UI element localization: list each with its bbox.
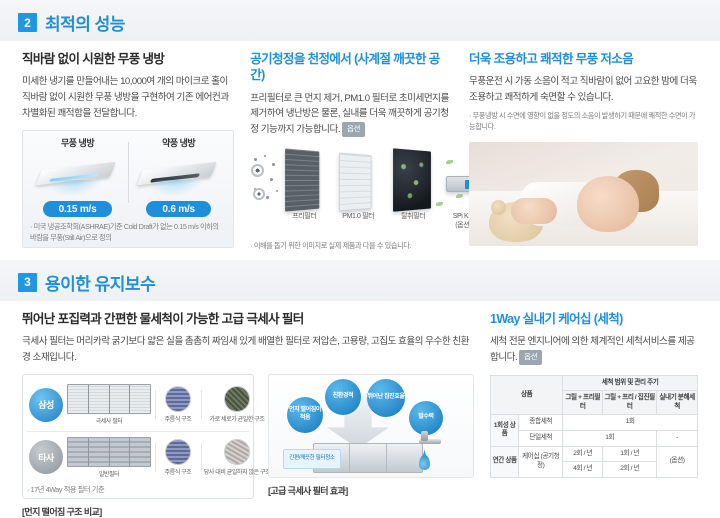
samsung-weave-caption: 가로 세로가 균일한 구조: [201, 414, 273, 423]
care-service-table: 상품 세척 범위 및 관리 주기 그릴 + 프리필터 그릴 + 프리 / 집진필…: [490, 375, 698, 478]
windless-cell: 무풍 냉방 0.15 m/s: [27, 136, 128, 218]
column-windless-cooling: 직바람 없이 시원한 무풍 냉방 미세한 냉기를 만들어내는 10,000여 개…: [14, 41, 242, 252]
column-heading: 공기청정을 천정에서 (사계절 깨끗한 공간): [250, 51, 453, 84]
filter-label-pre: 프리필터: [280, 212, 328, 221]
comparison-row-samsung: 삼성 극세사 필터 주름식 구조: [27, 379, 249, 431]
samsung-fold-cell: 주름식 구조: [155, 386, 201, 423]
column-body: 극세사 필터는 머리카락 굵기보다 얇은 실을 촘촘히 짜임새 있게 배열한 필…: [22, 334, 474, 366]
column-heading: 더욱 조용하고 쾌적한 무풍 저소음: [469, 51, 698, 67]
section-2-header: 2 최적의 성능: [18, 10, 720, 35]
easy-clean-tag: 간편/깨끗한 필터청소: [283, 449, 341, 469]
other-filter-caption: 일반필터: [63, 469, 155, 478]
ac-unit-windless-icon: [27, 154, 128, 196]
table-row: 단일세척 1회 -: [491, 430, 698, 446]
brochure-page: 2 최적의 성능 직바람 없이 시원한 무풍 냉방 미세한 냉기를 만들어내는 …: [0, 0, 720, 482]
cell-single-wash-cycle: 1회: [563, 430, 657, 446]
pre-filter-image: [285, 148, 319, 211]
subheader-full-disassembly: 실내기 분해세척: [657, 391, 698, 415]
effect-bubble-eco: 친환경적: [325, 379, 361, 415]
cell-careship-b2: 2회 / 년: [603, 462, 657, 478]
ashrae-note: · 미국 냉공조학회(ASHRAE)기준 Cold Draft가 없는 0.15…: [27, 222, 229, 244]
section-2-band: 2 최적의 성능: [0, 0, 720, 41]
section-3-header: 3 용이한 유지보수: [18, 270, 720, 295]
column-body: 무풍운전 시 가동 소음이 적고 직바람이 없어 고요한 밤에 더욱 조용하고 …: [469, 74, 698, 106]
column-body: 세척 전문 엔지니어에 의한 체계적인 세척서비스를 제공합니다.옵션: [490, 334, 698, 366]
column-heading: 1Way 실내기 케어십 (세척): [490, 311, 698, 327]
row-group-one-time: 1회성 상품: [491, 415, 519, 446]
section-2-columns: 직바람 없이 시원한 무풍 냉방 미세한 냉기를 만들어내는 10,000여 개…: [0, 41, 720, 252]
effect-bubble-water-repellent: 발수력: [409, 401, 443, 435]
brand-badge-other: 타사: [29, 440, 63, 474]
samsung-fold-caption: 주름식 구조: [155, 414, 201, 423]
row-item-full-wash: 종합세척: [519, 415, 563, 431]
cell-careship-a1: 2회 / 년: [563, 446, 603, 462]
column-heading: 직바람 없이 시원한 무풍 냉방: [22, 51, 234, 67]
subheader-grill-dust: 그릴 + 프리 / 집진필터: [603, 391, 657, 415]
weakwind-speed-badge: 0.6 m/s: [146, 201, 211, 217]
samsung-filter-cell: 극세사 필터: [63, 384, 155, 425]
column-body: 미세한 냉기를 만들어내는 10,000여 개의 마이크로 홀이 직바람 없이 …: [22, 74, 234, 121]
header-product: 상품: [491, 375, 563, 415]
section-3-columns: 뛰어난 포집력과 간편한 물세척이 가능한 고급 극세사 필터 극세사 필터는 …: [0, 301, 720, 518]
filter-label-pm10: PM1.0 필터: [332, 212, 384, 221]
filter-image-note: · 이해를 돕기 위한 이미지로 실제 제품과 다를 수 있습니다.: [250, 241, 453, 252]
section-2-title: 최적의 성능: [45, 10, 125, 35]
filter-structure-comparison: 삼성 극세사 필터 주름식 구조: [22, 374, 254, 500]
caption-dust-structure: [먼지 떨어짐 구조 비교]: [22, 505, 254, 518]
weakwind-label: 약풍 냉방: [128, 136, 229, 149]
samsung-filter-caption: 극세사 필터: [63, 416, 155, 425]
row-group-annual: 연간 상품: [491, 446, 519, 477]
table-row: 연간 상품 케어십 (공기청정) 2회 / 년 1회 / 년 (옵션): [491, 446, 698, 462]
column-body: 프리필터로 큰 먼지 제거, PM1.0 필터로 초미세먼지를 제거하여 냉난방…: [250, 91, 453, 138]
row-item-careship: 케어십 (공기청정): [519, 446, 563, 477]
other-fold-caption: 주름식 구조: [155, 467, 201, 476]
section-3-title: 용이한 유지보수: [45, 270, 155, 295]
cell-single-wash-disassembly: -: [657, 430, 698, 446]
other-weave-cell: 당사 대비 균일하지 않은 구조: [201, 439, 273, 476]
section-3-band: 3 용이한 유지보수: [0, 260, 720, 301]
cell-careship-option: (옵션): [657, 446, 698, 477]
effect-bubble-collection: 뛰어난 집진효율: [367, 379, 405, 417]
column-microfiber-filter: 뛰어난 포집력과 간편한 물세척이 가능한 고급 극세사 필터 극세사 필터는 …: [14, 301, 482, 518]
samsung-weave-cell: 가로 세로가 균일한 구조: [201, 386, 273, 423]
cell-full-wash-cycle: 1회: [563, 415, 698, 431]
other-filter-cell: 일반필터: [63, 437, 155, 478]
weakwind-cell: 약풍 냉방 0.6 m/s: [128, 136, 229, 218]
caption-microfiber-effect: [고급 극세사 필터 효과]: [268, 484, 474, 497]
other-weave-caption: 당사 대비 균일하지 않은 구조: [201, 467, 273, 476]
table-row: 1회성 상품 종합세척 1회: [491, 415, 698, 431]
wind-comparison-figure: 무풍 냉방 0.15 m/s 약풍 냉방 0.6 m/s · 미: [22, 130, 234, 248]
brand-badge-samsung: 삼성: [29, 388, 63, 422]
pm10-filter-image: [339, 153, 371, 212]
column-air-purification: 공기청정을 천정에서 (사계절 깨끗한 공간) 프리필터로 큰 먼지 제거, P…: [242, 41, 461, 252]
section-2-number: 2: [18, 13, 37, 32]
effect-bubble-less-dust: 먼지 떨어짐이 적음: [287, 397, 323, 433]
comparison-row-other: 타사 일반필터 주름식 구조: [27, 431, 249, 483]
filter-stack-figure: 프리필터 PM1.0 필터 탈취필터 SPi KIT (옵션): [250, 148, 453, 236]
microfiber-effect-diagram: 먼지 떨어짐이 적음 친환경적 뛰어난 집진효율 발수력 간편/깨끗한 필터청소: [268, 374, 474, 478]
dust-particles-icon: [252, 154, 282, 210]
water-drop-icon: [419, 455, 430, 470]
sleeping-baby-photo: [469, 142, 698, 246]
windless-label: 무풍 냉방: [27, 136, 128, 149]
option-badge: 옵션: [519, 350, 542, 364]
header-scope-cycle: 세척 범위 및 관리 주기: [563, 375, 698, 391]
ac-unit-weakwind-icon: [128, 154, 229, 196]
column-care-service: 1Way 실내기 케어십 (세척) 세척 전문 엔지니어에 의한 체계적인 세척…: [482, 301, 706, 518]
other-fold-cell: 주름식 구조: [155, 439, 201, 476]
filter-label-deodorizing: 탈취필터: [388, 212, 438, 221]
cell-careship-b1: 1회 / 년: [603, 446, 657, 462]
option-badge: 옵션: [342, 122, 365, 136]
column-heading: 뛰어난 포집력과 간편한 물세척이 가능한 고급 극세사 필터: [22, 311, 474, 327]
comparison-note: · 17년 4Way 적용 필터 기준: [27, 485, 249, 496]
section-3-number: 3: [18, 273, 37, 292]
row-item-single-wash: 단일세척: [519, 430, 563, 446]
subheader-grill-prefilter: 그릴 + 프리필터: [563, 391, 603, 415]
sleep-note: · 무풍냉방 시 수면에 영향이 없을 정도의 소음이 발생하기 때문에 쾌적한…: [469, 111, 698, 133]
faucet-icon: [415, 431, 445, 453]
windless-speed-badge: 0.15 m/s: [43, 201, 113, 217]
deodorizing-filter-image: [393, 148, 431, 211]
cell-careship-a2: 4회 / 년: [563, 462, 603, 478]
column-low-noise: 더욱 조용하고 쾌적한 무풍 저소음 무풍운전 시 가동 소음이 적고 직바람이…: [461, 41, 706, 252]
